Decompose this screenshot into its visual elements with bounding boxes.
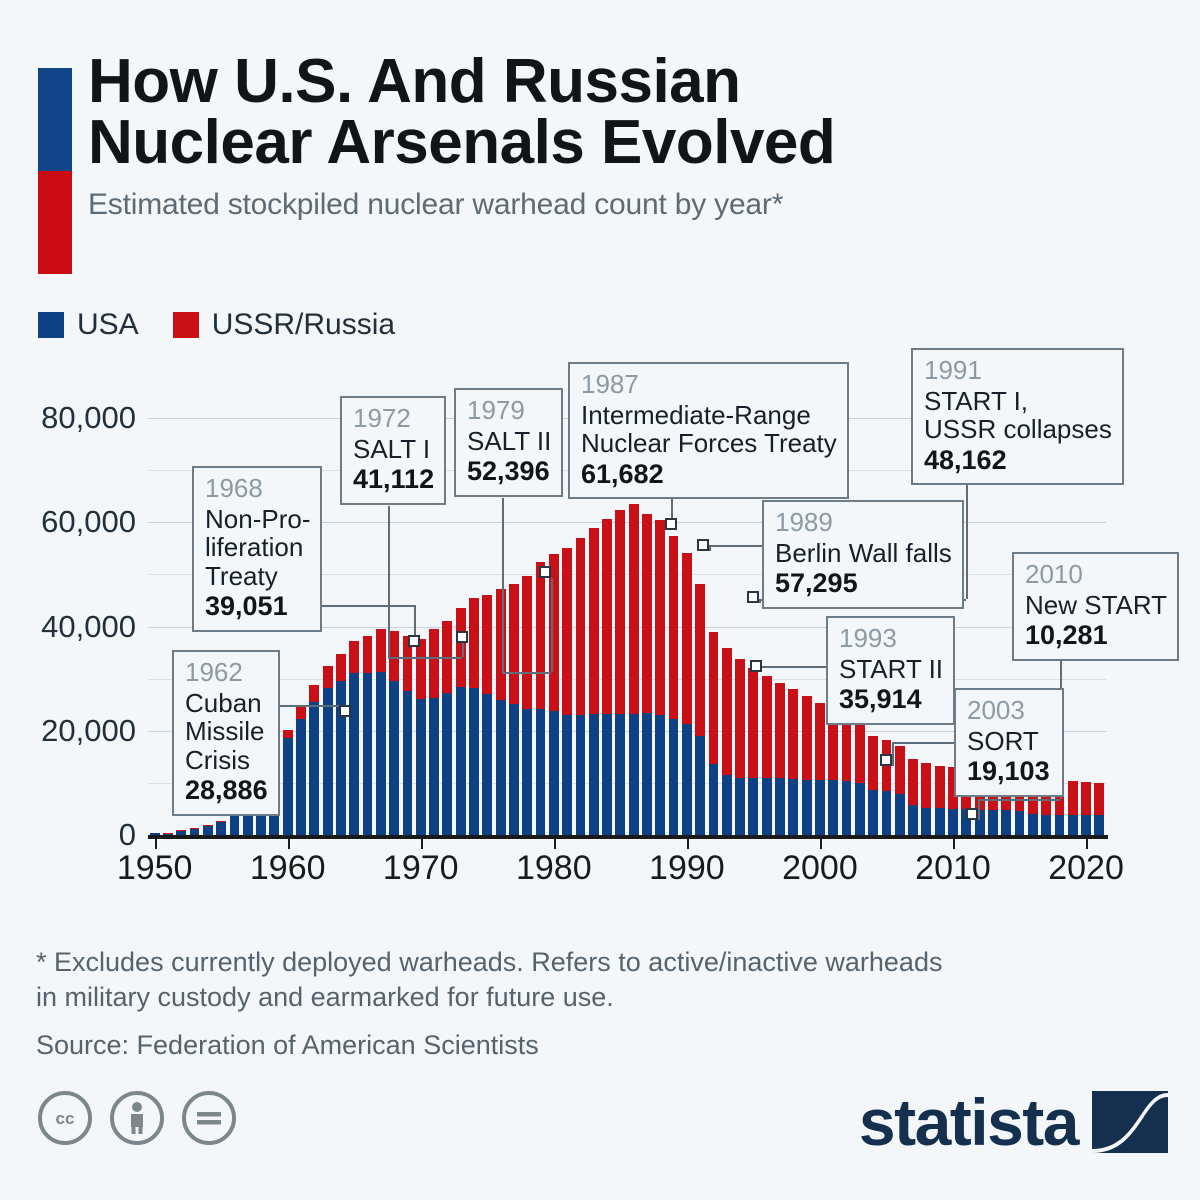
bar-segment-ussr-russia bbox=[576, 538, 586, 715]
bar-2021[interactable] bbox=[1094, 783, 1104, 835]
bar-segment-ussr-russia bbox=[536, 562, 546, 709]
bar-1971[interactable] bbox=[429, 629, 439, 835]
bar-segment-usa bbox=[1094, 815, 1104, 835]
bar-1992[interactable] bbox=[709, 632, 719, 835]
bar-segment-ussr-russia bbox=[296, 706, 306, 719]
annotation-marker[interactable] bbox=[697, 539, 709, 551]
bar-segment-ussr-russia bbox=[908, 759, 918, 805]
bar-segment-ussr-russia bbox=[842, 715, 852, 780]
bar-segment-ussr-russia bbox=[815, 703, 825, 780]
bar-segment-ussr-russia bbox=[216, 821, 226, 822]
accent-blue bbox=[38, 68, 72, 171]
bar-1985[interactable] bbox=[615, 510, 625, 835]
bar-segment-usa bbox=[536, 709, 546, 835]
bar-2006[interactable] bbox=[895, 746, 905, 835]
bar-segment-usa bbox=[908, 805, 918, 835]
bar-segment-usa bbox=[615, 714, 625, 835]
statista-logo[interactable]: statista bbox=[859, 1089, 1168, 1155]
bar-segment-usa bbox=[349, 673, 359, 835]
bar-segment-ussr-russia bbox=[309, 685, 319, 702]
bar-2001[interactable] bbox=[828, 710, 838, 835]
bar-1979[interactable] bbox=[536, 562, 546, 835]
bar-segment-usa bbox=[828, 780, 838, 835]
legend-swatch-icon bbox=[38, 312, 64, 338]
bar-segment-ussr-russia bbox=[190, 828, 200, 829]
bar-1974[interactable] bbox=[469, 598, 479, 835]
bar-1996[interactable] bbox=[762, 676, 772, 835]
annotation-leader-line bbox=[502, 672, 551, 674]
no-derivatives-equals-icon[interactable] bbox=[182, 1091, 236, 1145]
bar-1956[interactable] bbox=[230, 814, 240, 835]
annotation-value: 52,396 bbox=[467, 457, 551, 487]
bar-segment-ussr-russia bbox=[562, 548, 572, 715]
bar-segment-ussr-russia bbox=[416, 639, 426, 700]
bar-segment-usa bbox=[842, 781, 852, 836]
annotation-marker[interactable] bbox=[750, 660, 762, 672]
x-axis-tick bbox=[288, 835, 290, 849]
y-axis-tick-label: 60,000 bbox=[0, 504, 136, 540]
x-axis-tick bbox=[1086, 835, 1088, 849]
bar-1986[interactable] bbox=[629, 504, 639, 835]
annotation-leader-line bbox=[762, 666, 826, 668]
annotation-marker[interactable] bbox=[880, 754, 892, 766]
bar-segment-ussr-russia bbox=[775, 683, 785, 779]
x-axis-tick-label: 1980 bbox=[516, 849, 592, 888]
svg-text:cc: cc bbox=[56, 1109, 75, 1128]
annotation-value: 41,112 bbox=[353, 465, 434, 495]
bar-1965[interactable] bbox=[349, 641, 359, 835]
bar-1983[interactable] bbox=[589, 528, 599, 835]
bar-segment-usa bbox=[775, 778, 785, 835]
header: How U.S. And Russian Nuclear Arsenals Ev… bbox=[0, 0, 1200, 300]
attribution-person-icon[interactable] bbox=[110, 1091, 164, 1145]
bar-segment-usa bbox=[429, 698, 439, 835]
bar-segment-ussr-russia bbox=[522, 576, 532, 708]
bar-segment-ussr-russia bbox=[709, 632, 719, 763]
bar-segment-usa bbox=[735, 778, 745, 835]
bar-segment-usa bbox=[296, 719, 306, 835]
bar-1991[interactable] bbox=[695, 584, 705, 835]
x-axis-tick-label: 2000 bbox=[782, 849, 858, 888]
bar-segment-ussr-russia bbox=[203, 825, 213, 826]
x-axis-tick-label: 1950 bbox=[117, 849, 193, 888]
bar-segment-ussr-russia bbox=[509, 584, 519, 704]
annotation-leader-line bbox=[709, 545, 762, 547]
annotation-value: 35,914 bbox=[839, 685, 943, 715]
accent-red bbox=[38, 171, 72, 274]
bar-1969[interactable] bbox=[403, 636, 413, 835]
bar-segment-ussr-russia bbox=[589, 528, 599, 715]
bar-1975[interactable] bbox=[482, 595, 492, 835]
annotation-marker[interactable] bbox=[966, 808, 978, 820]
bar-segment-usa bbox=[403, 691, 413, 835]
bar-segment-usa bbox=[895, 794, 905, 835]
bar-segment-usa bbox=[496, 700, 506, 835]
bar-segment-usa bbox=[722, 775, 732, 835]
annotation-label: Cuban Missile Crisis bbox=[185, 689, 268, 775]
legend-label: USA bbox=[77, 308, 139, 342]
bar-segment-usa bbox=[855, 783, 865, 835]
bar-1988[interactable] bbox=[655, 520, 665, 835]
bar-1968[interactable] bbox=[389, 631, 399, 835]
annotation-label: Berlin Wall falls bbox=[775, 539, 952, 568]
bar-1966[interactable] bbox=[363, 636, 373, 835]
annotation-marker[interactable] bbox=[665, 518, 677, 530]
annotation-leader-line bbox=[320, 605, 414, 607]
bar-segment-ussr-russia bbox=[376, 629, 386, 672]
statista-wordmark: statista bbox=[859, 1089, 1078, 1155]
annotation-year: 1968 bbox=[205, 474, 310, 503]
bar-1984[interactable] bbox=[602, 519, 612, 835]
annotation-value: 19,103 bbox=[967, 757, 1052, 787]
legend-swatch-icon bbox=[173, 312, 199, 338]
annotation-leader-line bbox=[978, 799, 1060, 801]
bar-segment-usa bbox=[682, 724, 692, 836]
bar-segment-usa bbox=[230, 816, 240, 835]
annotation-marker[interactable] bbox=[539, 566, 551, 578]
bar-1954[interactable] bbox=[203, 825, 213, 835]
bar-segment-usa bbox=[788, 779, 798, 835]
x-axis-tick-label: 2020 bbox=[1048, 849, 1124, 888]
bar-1967[interactable] bbox=[376, 629, 386, 835]
cc-icon[interactable]: cc bbox=[38, 1091, 92, 1145]
footer: cc statista bbox=[0, 1085, 1200, 1185]
bar-segment-ussr-russia bbox=[283, 730, 293, 738]
annotation-label: Non-Pro- liferation Treaty bbox=[205, 505, 310, 591]
y-axis-tick-label: 20,000 bbox=[0, 713, 136, 749]
bar-segment-ussr-russia bbox=[482, 595, 492, 694]
bar-1961[interactable] bbox=[296, 706, 306, 835]
annotation-box-1993[interactable]: 1993START II35,914 bbox=[826, 616, 955, 725]
bar-segment-usa bbox=[762, 778, 772, 835]
bar-segment-usa bbox=[562, 715, 572, 835]
bar-2019[interactable] bbox=[1068, 781, 1078, 835]
bar-segment-ussr-russia bbox=[615, 510, 625, 714]
bar-segment-usa bbox=[482, 694, 492, 835]
bar-1960[interactable] bbox=[283, 729, 293, 835]
bar-segment-usa bbox=[802, 780, 812, 835]
bar-1970[interactable] bbox=[416, 639, 426, 835]
x-axis-tick bbox=[155, 835, 157, 849]
annotation-value: 61,682 bbox=[581, 460, 837, 490]
annotation-box-1979[interactable]: 1979SALT II52,396 bbox=[454, 388, 563, 497]
bar-segment-usa bbox=[323, 688, 333, 835]
bar-segment-usa bbox=[709, 764, 719, 835]
annotation-box-1989[interactable]: 1989Berlin Wall falls57,295 bbox=[762, 500, 964, 609]
legend-label: USSR/Russia bbox=[212, 308, 395, 342]
bar-1978[interactable] bbox=[522, 576, 532, 835]
bar-1972[interactable] bbox=[442, 621, 452, 835]
bar-segment-usa bbox=[882, 791, 892, 835]
bar-1997[interactable] bbox=[775, 683, 785, 835]
annotation-label: New START bbox=[1025, 591, 1167, 620]
x-axis-tick bbox=[953, 835, 955, 849]
bar-segment-ussr-russia bbox=[602, 519, 612, 714]
bar-segment-ussr-russia bbox=[1068, 781, 1078, 815]
source-text: Source: Federation of American Scientist… bbox=[36, 1030, 1156, 1061]
annotation-leader-line bbox=[462, 643, 464, 657]
annotation-leader-line bbox=[388, 657, 462, 659]
annotation-leader-line bbox=[502, 498, 504, 672]
annotation-box-1972[interactable]: 1972SALT I41,112 bbox=[340, 396, 446, 505]
bar-segment-ussr-russia bbox=[642, 514, 652, 713]
title-block: How U.S. And Russian Nuclear Arsenals Ev… bbox=[88, 52, 1168, 222]
annotation-year: 1972 bbox=[353, 404, 434, 433]
bar-2009[interactable] bbox=[935, 766, 945, 835]
annotation-label: Intermediate-Range Nuclear Forces Treaty bbox=[581, 401, 837, 458]
bar-segment-usa bbox=[1055, 815, 1065, 835]
annotation-label: SALT II bbox=[467, 427, 551, 456]
bar-2007[interactable] bbox=[908, 759, 918, 835]
bar-segment-ussr-russia bbox=[1081, 782, 1091, 815]
bar-1976[interactable] bbox=[496, 589, 506, 835]
bar-1994[interactable] bbox=[735, 659, 745, 835]
bar-segment-ussr-russia bbox=[762, 676, 772, 778]
bar-2004[interactable] bbox=[868, 736, 878, 835]
annotation-box-2010[interactable]: 2010New START10,281 bbox=[1012, 552, 1179, 661]
bar-1953[interactable] bbox=[190, 828, 200, 835]
annotation-leader-line bbox=[966, 484, 968, 599]
gridline-minor bbox=[148, 679, 1106, 680]
bar-segment-usa bbox=[935, 808, 945, 835]
bar-segment-ussr-russia bbox=[669, 536, 679, 719]
bar-segment-ussr-russia bbox=[921, 763, 931, 807]
bar-1998[interactable] bbox=[788, 689, 798, 835]
annotation-leader-line bbox=[892, 742, 894, 766]
page-title: How U.S. And Russian Nuclear Arsenals Ev… bbox=[88, 52, 1168, 174]
bar-1963[interactable] bbox=[323, 666, 333, 835]
bar-1962[interactable] bbox=[309, 685, 319, 835]
bar-segment-ussr-russia bbox=[469, 598, 479, 689]
y-axis-tick-label: 40,000 bbox=[0, 609, 136, 645]
bar-segment-usa bbox=[576, 715, 586, 835]
bar-segment-usa bbox=[748, 778, 758, 835]
x-axis-tick bbox=[421, 835, 423, 849]
bar-segment-ussr-russia bbox=[855, 724, 865, 783]
bar-segment-usa bbox=[868, 790, 878, 835]
bar-segment-ussr-russia bbox=[349, 641, 359, 673]
bar-segment-usa bbox=[948, 809, 958, 835]
bar-segment-ussr-russia bbox=[456, 608, 466, 687]
annotation-label: SALT I bbox=[353, 435, 434, 464]
annotation-marker[interactable] bbox=[747, 591, 759, 603]
annotation-leader-line bbox=[551, 578, 553, 672]
bar-segment-usa bbox=[602, 714, 612, 835]
x-axis-tick-label: 1990 bbox=[649, 849, 725, 888]
bar-segment-usa bbox=[589, 714, 599, 835]
bar-segment-usa bbox=[1041, 815, 1051, 835]
bar-1981[interactable] bbox=[562, 548, 572, 835]
bar-segment-usa bbox=[389, 681, 399, 835]
bar-segment-usa bbox=[988, 810, 998, 835]
bar-segment-usa bbox=[416, 699, 426, 835]
bar-segment-usa bbox=[469, 688, 479, 835]
x-axis-tick-label: 1960 bbox=[250, 849, 326, 888]
creative-commons-icons: cc bbox=[38, 1091, 236, 1145]
annotation-box-1962[interactable]: 1962Cuban Missile Crisis28,886 bbox=[172, 650, 280, 816]
bar-segment-ussr-russia bbox=[802, 696, 812, 779]
bar-segment-usa bbox=[642, 713, 652, 835]
annotation-year: 1962 bbox=[185, 658, 268, 687]
x-axis-tick bbox=[554, 835, 556, 849]
page-subtitle: Estimated stockpiled nuclear warhead cou… bbox=[88, 188, 1168, 222]
bar-segment-ussr-russia bbox=[363, 636, 373, 673]
bar-segment-ussr-russia bbox=[748, 668, 758, 779]
annotation-year: 1991 bbox=[924, 356, 1112, 385]
annotation-value: 39,051 bbox=[205, 592, 310, 622]
bar-segment-ussr-russia bbox=[682, 553, 692, 724]
bar-segment-ussr-russia bbox=[1094, 783, 1104, 816]
chart-legend: USAUSSR/Russia bbox=[38, 308, 395, 342]
bar-2000[interactable] bbox=[815, 703, 825, 835]
bar-segment-usa bbox=[376, 672, 386, 835]
annotation-label: START II bbox=[839, 655, 943, 684]
annotation-label: SORT bbox=[967, 727, 1052, 756]
bar-2008[interactable] bbox=[921, 763, 931, 835]
bar-segment-usa bbox=[283, 738, 293, 835]
bar-segment-ussr-russia bbox=[695, 584, 705, 736]
x-axis-tick-label: 2010 bbox=[915, 849, 991, 888]
x-axis-tick-label: 1970 bbox=[383, 849, 459, 888]
bar-segment-usa bbox=[1028, 814, 1038, 835]
bar-segment-usa bbox=[669, 719, 679, 835]
legend-item-usa[interactable]: USA bbox=[38, 308, 139, 342]
bar-segment-usa bbox=[1015, 811, 1025, 835]
bar-segment-usa bbox=[309, 702, 319, 835]
bar-segment-usa bbox=[629, 714, 639, 835]
bar-1989[interactable] bbox=[669, 536, 679, 835]
annotation-value: 28,886 bbox=[185, 776, 268, 806]
statista-logo-mark bbox=[1092, 1091, 1168, 1153]
bar-segment-usa bbox=[522, 709, 532, 835]
title-accent-bar bbox=[38, 68, 72, 274]
bar-1987[interactable] bbox=[642, 513, 652, 835]
bar-segment-usa bbox=[1068, 815, 1078, 835]
annotation-year: 1979 bbox=[467, 396, 551, 425]
annotation-value: 48,162 bbox=[924, 446, 1112, 476]
bar-segment-usa bbox=[549, 711, 559, 835]
bar-segment-usa bbox=[509, 704, 519, 835]
annotation-year: 2010 bbox=[1025, 560, 1167, 589]
legend-item-ussr-russia[interactable]: USSR/Russia bbox=[173, 308, 395, 342]
y-axis-tick-label: 80,000 bbox=[0, 400, 136, 436]
bar-1964[interactable] bbox=[336, 654, 346, 835]
annotation-year: 1989 bbox=[775, 508, 952, 537]
annotation-leader-line bbox=[978, 799, 980, 820]
bar-segment-usa bbox=[442, 693, 452, 835]
bar-segment-usa bbox=[1001, 810, 1011, 835]
annotation-label: START I, USSR collapses bbox=[924, 387, 1112, 444]
bar-segment-ussr-russia bbox=[429, 629, 439, 697]
bar-segment-ussr-russia bbox=[496, 589, 506, 700]
bar-segment-ussr-russia bbox=[735, 659, 745, 778]
annotation-box-2003[interactable]: 2003SORT19,103 bbox=[954, 688, 1064, 797]
annotation-box-1991[interactable]: 1991START I, USSR collapses48,162 bbox=[911, 348, 1124, 485]
x-axis-tick bbox=[820, 835, 822, 849]
annotation-value: 57,295 bbox=[775, 569, 952, 599]
bar-2003[interactable] bbox=[855, 724, 865, 835]
bar-segment-ussr-russia bbox=[935, 766, 945, 809]
bar-2020[interactable] bbox=[1081, 782, 1091, 835]
bar-segment-ussr-russia bbox=[895, 746, 905, 794]
bar-segment-usa bbox=[203, 826, 213, 835]
bar-segment-usa bbox=[695, 736, 705, 835]
bar-segment-ussr-russia bbox=[323, 666, 333, 688]
annotation-marker[interactable] bbox=[456, 631, 468, 643]
bar-segment-usa bbox=[815, 780, 825, 835]
annotation-marker[interactable] bbox=[408, 635, 420, 647]
bar-1990[interactable] bbox=[682, 553, 692, 835]
bar-1995[interactable] bbox=[748, 668, 758, 835]
bar-1955[interactable] bbox=[216, 821, 226, 835]
bar-segment-ussr-russia bbox=[655, 520, 665, 715]
annotation-leader-line bbox=[759, 599, 761, 603]
y-axis-tick-label: 0 bbox=[0, 817, 136, 853]
bar-segment-usa bbox=[216, 822, 226, 835]
x-axis-tick bbox=[687, 835, 689, 849]
annotation-box-1987[interactable]: 1987Intermediate-Range Nuclear Forces Tr… bbox=[568, 362, 849, 499]
bar-1977[interactable] bbox=[509, 584, 519, 835]
bar-segment-ussr-russia bbox=[336, 654, 346, 681]
annotation-leader-line bbox=[892, 742, 954, 744]
bar-segment-usa bbox=[363, 673, 373, 835]
bar-1982[interactable] bbox=[576, 538, 586, 835]
annotation-year: 1987 bbox=[581, 370, 837, 399]
annotation-year: 1993 bbox=[839, 624, 943, 653]
bar-1999[interactable] bbox=[802, 696, 812, 835]
x-axis-line bbox=[148, 835, 1108, 839]
annotation-box-1968[interactable]: 1968Non-Pro- liferation Treaty39,051 bbox=[192, 466, 322, 632]
annotation-leader-line bbox=[709, 545, 711, 551]
bar-segment-ussr-russia bbox=[788, 689, 798, 779]
bar-1993[interactable] bbox=[722, 648, 732, 835]
bar-segment-usa bbox=[456, 687, 466, 835]
footnote-text: * Excludes currently deployed warheads. … bbox=[36, 945, 1156, 1014]
bar-segment-usa bbox=[655, 715, 665, 835]
footnotes: * Excludes currently deployed warheads. … bbox=[36, 945, 1156, 1061]
bar-segment-ussr-russia bbox=[722, 648, 732, 775]
bar-segment-ussr-russia bbox=[868, 736, 878, 791]
annotation-marker[interactable] bbox=[339, 705, 351, 717]
bar-segment-usa bbox=[921, 808, 931, 835]
annotation-value: 10,281 bbox=[1025, 621, 1167, 651]
annotation-year: 2003 bbox=[967, 696, 1052, 725]
annotation-leader-line bbox=[388, 506, 390, 657]
bar-segment-ussr-russia bbox=[629, 504, 639, 713]
bar-2002[interactable] bbox=[842, 715, 852, 835]
annotation-leader-line bbox=[278, 705, 345, 707]
bar-segment-usa bbox=[1081, 815, 1091, 835]
